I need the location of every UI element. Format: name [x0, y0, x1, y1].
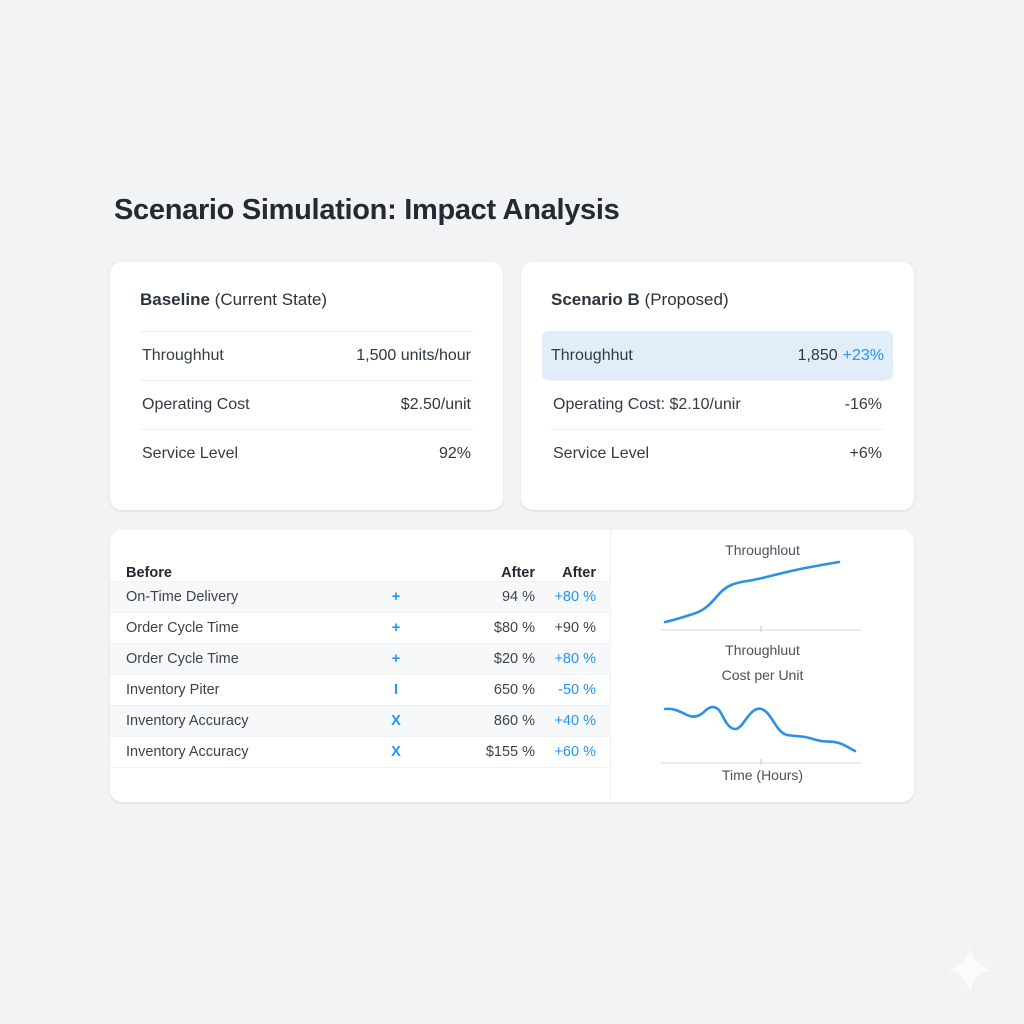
cell-value: 860 % — [450, 705, 535, 736]
metric-label: Throughhut — [551, 347, 633, 365]
table-header-row: Before After After — [110, 530, 611, 581]
column-header-after-delta[interactable]: After — [535, 530, 611, 581]
cell-symbol: X — [342, 736, 450, 767]
metric-value-number: 1,850 — [798, 347, 838, 364]
metric-row[interactable]: Service Level 92% — [140, 429, 473, 478]
page-title: Scenario Simulation: Impact Analysis — [114, 194, 619, 227]
scenario-b-metric-list: Throughhut 1,850+23% Operating Cost: $2.… — [551, 331, 884, 478]
metric-row[interactable]: Service Level +6% — [551, 429, 884, 478]
table-row[interactable]: Order Cycle Time + $20 % +80 % — [110, 643, 611, 674]
metric-value: $2.50/unit — [401, 396, 471, 414]
metric-row[interactable]: Throughhut 1,500 units/hour — [140, 331, 473, 380]
chart-1-xlabel: Throughluut — [611, 642, 914, 658]
metric-value: 1,500 units/hour — [356, 347, 471, 365]
scenario-b-card-heading: Scenario B (Proposed) — [551, 290, 729, 310]
chart-1-plot — [661, 560, 861, 632]
cell-symbol: + — [342, 612, 450, 643]
cell-symbol: X — [342, 705, 450, 736]
table-row[interactable]: Inventory Accuracy X 860 % +40 % — [110, 705, 611, 736]
metric-delta: -16% — [845, 396, 882, 413]
cell-metric-name: Order Cycle Time — [110, 643, 342, 674]
sparkle-icon — [944, 944, 996, 996]
table-row[interactable]: Order Cycle Time + $80 % +90 % — [110, 612, 611, 643]
metric-label: Service Level — [142, 445, 238, 463]
cell-symbol: I — [342, 674, 450, 705]
scenario-b-card: Scenario B (Proposed) Throughhut 1,850+2… — [521, 262, 914, 510]
cell-delta: -50 % — [535, 674, 611, 705]
trend-symbol-icon: + — [392, 620, 400, 636]
chart-1-title: Throughlout — [611, 542, 914, 558]
delta-text: +80 % — [554, 589, 596, 605]
baseline-card-heading-strong: Baseline — [140, 290, 210, 309]
metric-label: Throughhut — [142, 347, 224, 365]
comparison-panel: Before After After On-Time Delivery + 94… — [110, 530, 914, 802]
chart-2-xlabel: Time (Hours) — [611, 767, 914, 783]
cell-value: $80 % — [450, 612, 535, 643]
baseline-card: Baseline (Current State) Throughhut 1,50… — [110, 262, 503, 510]
delta-text: +60 % — [554, 744, 596, 760]
cell-metric-name: Inventory Accuracy — [110, 705, 342, 736]
trend-symbol-icon: X — [391, 713, 401, 729]
trend-symbol-icon: + — [392, 651, 400, 667]
cell-metric-name: On-Time Delivery — [110, 581, 342, 612]
cell-symbol: + — [342, 643, 450, 674]
scenario-b-heading-strong: Scenario B — [551, 290, 640, 309]
metric-value: -16% — [845, 396, 882, 414]
metric-row[interactable]: Operating Cost $2.50/unit — [140, 380, 473, 429]
metric-delta: +23% — [843, 347, 884, 364]
cell-symbol: + — [342, 581, 450, 612]
chart-1-line — [665, 562, 839, 622]
comparison-table: Before After After On-Time Delivery + 94… — [110, 530, 611, 768]
cell-metric-name: Inventory Piter — [110, 674, 342, 705]
delta-text: -50 % — [558, 682, 596, 698]
table-row[interactable]: Inventory Accuracy X $155 % +60 % — [110, 736, 611, 767]
cell-delta: +60 % — [535, 736, 611, 767]
chart-2-title: Cost per Unit — [611, 667, 914, 683]
charts-pane: Throughlout Throughluut Cost per Unit Ti… — [611, 530, 914, 802]
metric-value: +6% — [850, 445, 882, 463]
trend-symbol-icon: + — [392, 589, 400, 605]
delta-text: +80 % — [554, 651, 596, 667]
metric-label: Operating Cost: $2.10/unir — [553, 396, 741, 414]
cell-value: $20 % — [450, 643, 535, 674]
comparison-table-wrapper: Before After After On-Time Delivery + 94… — [110, 530, 611, 802]
baseline-metric-list: Throughhut 1,500 units/hour Operating Co… — [140, 331, 473, 478]
chart-2-plot — [661, 693, 861, 765]
trend-symbol-icon: X — [391, 744, 401, 760]
metric-value: 92% — [439, 445, 471, 463]
cell-value: 650 % — [450, 674, 535, 705]
metric-row[interactable]: Operating Cost: $2.10/unir -16% — [551, 380, 884, 429]
chart-2-line — [665, 707, 855, 751]
cell-value: 94 % — [450, 581, 535, 612]
cell-delta: +90 % — [535, 612, 611, 643]
metric-label: Operating Cost — [142, 396, 250, 414]
metric-label: Service Level — [553, 445, 649, 463]
scenario-b-heading-rest: (Proposed) — [640, 290, 729, 309]
table-header: Before After After — [110, 530, 611, 581]
column-header-after[interactable]: After — [450, 530, 535, 581]
cell-value: $155 % — [450, 736, 535, 767]
cell-metric-name: Inventory Accuracy — [110, 736, 342, 767]
metric-delta: +6% — [850, 445, 882, 462]
cell-delta: +40 % — [535, 705, 611, 736]
trend-symbol-icon: I — [394, 682, 398, 698]
cell-delta: +80 % — [535, 643, 611, 674]
cell-metric-name: Order Cycle Time — [110, 612, 342, 643]
column-header-before[interactable]: Before — [110, 530, 342, 581]
table-body: On-Time Delivery + 94 % +80 % Order Cycl… — [110, 581, 611, 767]
metric-value: 1,850+23% — [798, 347, 884, 365]
baseline-card-heading-rest: (Current State) — [210, 290, 327, 309]
app-root: Scenario Simulation: Impact Analysis Bas… — [0, 0, 1024, 1024]
table-row[interactable]: Inventory Piter I 650 % -50 % — [110, 674, 611, 705]
metric-row-highlighted[interactable]: Throughhut 1,850+23% — [542, 331, 893, 380]
table-row[interactable]: On-Time Delivery + 94 % +80 % — [110, 581, 611, 612]
column-header-symbol — [342, 530, 450, 581]
cell-delta: +80 % — [535, 581, 611, 612]
delta-text: +40 % — [554, 713, 596, 729]
baseline-card-heading: Baseline (Current State) — [140, 290, 327, 310]
delta-text: +90 % — [554, 620, 596, 636]
